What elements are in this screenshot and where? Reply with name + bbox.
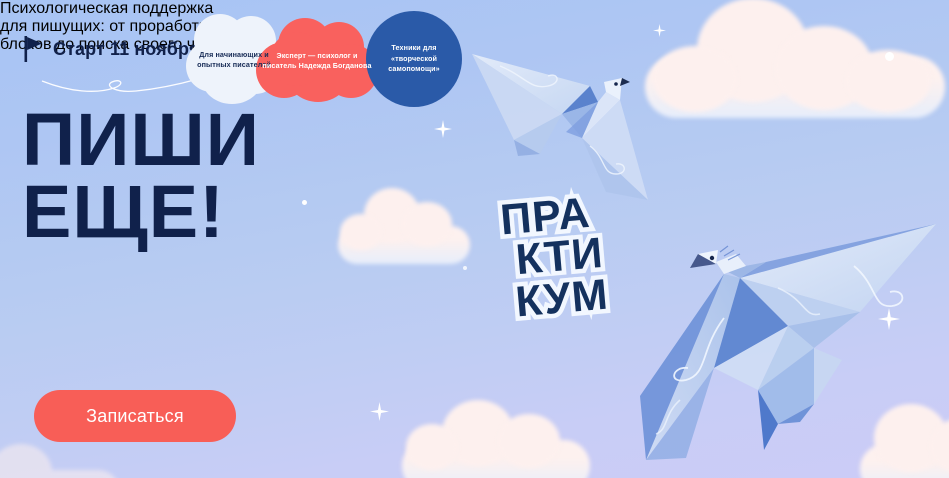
flag-icon <box>24 36 44 62</box>
star-dot <box>463 266 467 270</box>
badge-group: Для начинающих и опытных писателей Экспе… <box>186 8 486 108</box>
sparkle-icon <box>434 120 452 138</box>
badge-label: Техники для «творческой самопомощи» <box>374 43 454 74</box>
sparkle-icon <box>370 402 389 421</box>
praktikum-sticker: ПРА КТИ КУМ <box>499 192 610 324</box>
star-dot <box>764 428 771 435</box>
sticker-line-3: КУМ <box>514 274 610 323</box>
origami-bird-large <box>628 208 949 478</box>
star-dot <box>302 200 307 205</box>
cloud-middle-left <box>338 186 470 266</box>
cloud-bottom-right <box>860 400 949 478</box>
badge-topic[interactable]: Техники для «творческой самопомощи» <box>366 11 462 107</box>
start-date-label: Старт 11 ноября <box>53 39 199 60</box>
promo-banner: Старт 11 ноября Для начинающих и опытных… <box>0 0 949 478</box>
signup-button[interactable]: Записаться <box>34 390 236 442</box>
headline: ПИШИ ЕЩЕ! <box>22 104 260 248</box>
headline-line-1: ПИШИ <box>22 104 260 176</box>
sparkle-icon <box>878 308 900 330</box>
headline-line-2: ЕЩЕ! <box>22 176 260 248</box>
flourish-underline-icon <box>40 78 200 96</box>
cloud-bottom-center <box>402 398 590 478</box>
start-date-row: Старт 11 ноября <box>24 36 199 62</box>
badge-label: Эксперт — психолог и писатель Надежда Бо… <box>259 51 375 72</box>
badge-expert[interactable]: Эксперт — психолог и писатель Надежда Бо… <box>256 18 378 104</box>
cloud-bottom-left <box>0 444 120 478</box>
origami-bird-small <box>470 28 685 203</box>
